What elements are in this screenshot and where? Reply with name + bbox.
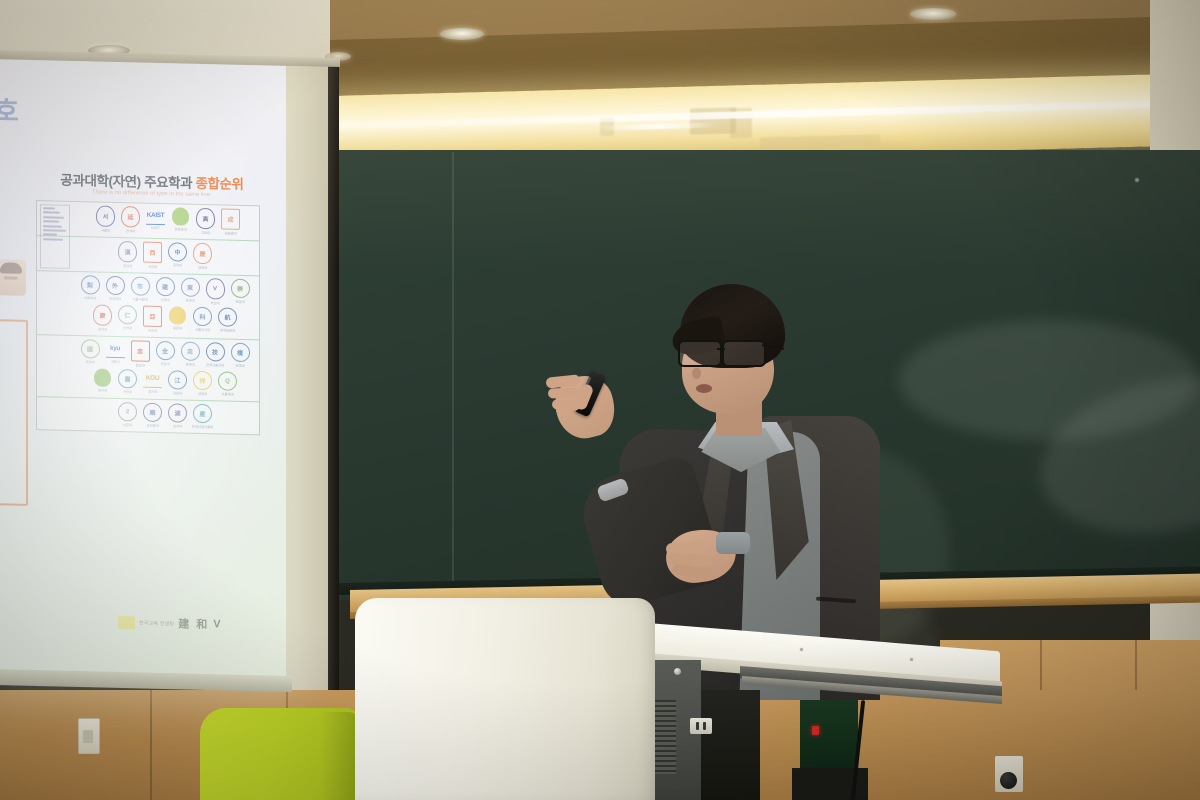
slide-footer-brand: 한국교육 컨설팅 建 和 V — [118, 614, 221, 632]
university-wordmark: KGU — [143, 370, 162, 388]
university-caption: 세종대 — [110, 359, 119, 364]
university-item: 祥상명대 — [192, 371, 214, 397]
university-caption: 한양대 — [123, 263, 132, 268]
university-item: 東동국대 — [179, 277, 201, 305]
university-caption: 고려대 — [201, 230, 210, 235]
university-item: 高고려대 — [195, 208, 217, 236]
brand-cjk-text: 建 和 — [178, 615, 209, 632]
power-plug[interactable] — [1000, 772, 1017, 789]
university-item: 慶경북대 — [92, 304, 114, 332]
university-caption: 건국대 — [160, 297, 169, 302]
university-item: 延연세대 — [120, 206, 142, 234]
university-item: 漢한양대 — [117, 241, 139, 269]
university-caption: 한국외대 — [109, 296, 121, 301]
university-item: 2선문대 — [117, 402, 139, 428]
university-crest-icon: 江 — [168, 370, 187, 389]
power-led-icon — [812, 726, 819, 735]
university-item: 嘉가천대 — [117, 369, 139, 395]
university-logo-icon — [94, 368, 111, 386]
lectern-leg — [700, 690, 760, 800]
university-caption: 중앙대 — [173, 262, 182, 267]
university-item: 명지대 — [92, 368, 114, 394]
university-crest-icon: 檀 — [231, 343, 250, 362]
university-caption: 경북대 — [98, 327, 107, 332]
university-crest-icon: 技 — [206, 342, 225, 361]
university-caption: 인하대 — [123, 325, 132, 330]
screw — [800, 648, 803, 651]
downlight-icon — [910, 8, 956, 20]
ranking-tier: 漢한양대西서강대中중앙대慶경희대 — [37, 236, 259, 276]
university-item: 科서울과기대 — [192, 307, 214, 335]
university-wordmark: kyu — [106, 340, 125, 358]
ranking-table: 서서울대延연세대KAISTKAIST포항공대高고려대成성균관대漢한양대西서강대中… — [36, 200, 260, 435]
university-item: KGU경기대 — [142, 370, 164, 396]
university-crest-icon: 慶 — [93, 304, 112, 325]
university-crest-icon: 漢 — [118, 241, 137, 262]
university-caption: KAIST — [151, 226, 160, 230]
university-crest-icon: 東 — [181, 278, 200, 297]
university-item: KAISTKAIST — [145, 207, 167, 235]
university-item: Q가톨릭대 — [217, 371, 239, 397]
ranking-tier: 梨이화여대外한국외대市서울시립대建건국대東동국대V부산대崇숭실대慶경북대仁인하대… — [37, 271, 259, 340]
university-crest-icon: Q — [218, 371, 237, 390]
university-caption: 가톨릭대 — [221, 391, 233, 396]
lectern-lock-knob[interactable] — [674, 668, 681, 675]
university-item: 仁인하대 — [117, 305, 139, 333]
screw — [910, 658, 913, 661]
university-item: 江강원대 — [167, 370, 189, 396]
university-caption: 성균관대 — [224, 231, 236, 236]
university-crest-icon: 航 — [218, 307, 237, 326]
university-crest-icon: 崇 — [231, 279, 250, 298]
university-caption: 아주대 — [148, 328, 157, 333]
university-item: 亞아주대 — [142, 306, 164, 334]
university-crest-icon: 中 — [168, 242, 187, 261]
university-caption: 동국대 — [185, 298, 194, 303]
university-item: 서서울대 — [95, 205, 117, 233]
slide-cutoff-header: 호 — [0, 89, 18, 129]
university-caption: 서울대 — [101, 228, 110, 233]
university-caption: 상명대 — [198, 391, 207, 396]
projected-slide: 호 공과대학(자연) 주요학과 종합순위 There is no differe… — [0, 59, 286, 686]
av-equipment — [800, 690, 858, 776]
university-item: 成성균관대 — [220, 208, 242, 236]
university-crest-icon: 仁 — [118, 305, 137, 324]
ranking-tier: 國국민대kyu세종대忠충남대全전남대忠충북대技한국기술교대檀단국대명지대嘉가천대… — [37, 335, 259, 402]
university-caption: 순천향대 — [146, 423, 158, 428]
ranking-tier: 2선문대順순천향대湖호서대産한국산업기술대 — [37, 397, 259, 434]
university-crest-icon: 梨 — [81, 275, 100, 294]
university-caption: 광운대 — [173, 325, 182, 330]
slide-highlight-box — [0, 319, 28, 506]
slide-title-main: 공과대학(자연) 주요학과 — [60, 173, 195, 191]
university-item: 西서강대 — [142, 242, 164, 270]
university-caption: 연세대 — [126, 228, 135, 233]
university-item: 梨이화여대 — [79, 275, 101, 303]
university-item: 광운대 — [167, 306, 189, 334]
university-caption: 전남대 — [160, 361, 169, 366]
university-item: 湖호서대 — [167, 403, 189, 429]
chalkboard-seam — [452, 152, 454, 592]
university-crest-icon: 市 — [131, 276, 150, 295]
university-item: 順순천향대 — [142, 403, 164, 429]
university-caption: 경기대 — [148, 389, 157, 394]
lecture-hall-scene: 호 공과대학(자연) 주요학과 종합순위 There is no differe… — [0, 0, 1200, 800]
brand-v-icon: V — [213, 618, 220, 630]
wall-plate-insert — [83, 730, 93, 743]
glasses-lens-left — [678, 340, 722, 367]
university-crest-icon: 延 — [121, 206, 140, 227]
glasses-bridge — [717, 348, 725, 350]
university-item: 産한국산업기술대 — [192, 404, 214, 430]
ranking-tier: 서서울대延연세대KAISTKAIST포항공대高고려대成성균관대 — [37, 201, 259, 241]
university-caption: 충북대 — [185, 362, 194, 367]
university-caption: 국민대 — [85, 359, 94, 364]
university-item: 忠충북대 — [179, 341, 201, 369]
university-crest-icon: 嘉 — [118, 369, 137, 388]
university-crest-icon: 順 — [143, 403, 162, 422]
university-crest-icon: 忠 — [181, 342, 200, 361]
university-caption: 서강대 — [148, 264, 157, 269]
downlight-icon — [440, 28, 484, 40]
lectern-body — [355, 598, 655, 800]
university-crest-icon: 祥 — [193, 371, 212, 390]
university-crest-icon: 亞 — [143, 306, 162, 327]
university-item: 忠충남대 — [129, 340, 151, 368]
lectern-power-outlet[interactable] — [690, 718, 712, 734]
university-caption: 한국산업기술대 — [192, 424, 213, 429]
university-caption: 부산대 — [210, 300, 219, 305]
university-caption: 충남대 — [135, 362, 144, 367]
university-logo-icon — [172, 207, 189, 225]
university-caption: 가천대 — [123, 389, 132, 394]
university-crest-icon: 全 — [156, 341, 175, 360]
university-crest-icon: 國 — [81, 339, 100, 358]
projection-screen: 호 공과대학(자연) 주요학과 종합순위 There is no differe… — [0, 59, 286, 686]
university-crest-icon: 忠 — [131, 340, 150, 361]
glasses-icon — [678, 340, 776, 364]
university-caption: 단국대 — [235, 363, 244, 368]
university-crest-icon: 成 — [221, 208, 240, 229]
mouth — [696, 384, 712, 393]
tier-logo-row: 漢한양대西서강대中중앙대慶경희대 — [39, 239, 257, 271]
university-crest-icon: 外 — [106, 276, 125, 295]
university-crest-icon: 서 — [96, 206, 115, 227]
university-caption: 강원대 — [173, 390, 182, 395]
wood-seam — [150, 690, 152, 800]
university-caption: 이화여대 — [84, 295, 96, 300]
slide-title-highlight: 종합순위 — [196, 176, 244, 192]
university-crest-icon: V — [206, 278, 225, 299]
university-item: 中중앙대 — [167, 242, 189, 270]
university-caption: 서울시립대 — [132, 296, 147, 301]
university-crest-icon: 慶 — [193, 243, 212, 264]
university-caption: 경희대 — [198, 265, 207, 270]
tier-logo-row: 梨이화여대外한국외대市서울시립대建건국대東동국대V부산대崇숭실대慶경북대仁인하대… — [39, 274, 257, 335]
sweater-cuff — [716, 532, 750, 554]
university-crest-icon: 湖 — [168, 403, 187, 422]
slide-avatar-icon — [0, 259, 26, 296]
university-crest-icon: 産 — [193, 404, 212, 423]
university-item: 國국민대 — [79, 339, 101, 367]
vent-grille-icon — [652, 700, 676, 774]
tier-logo-row: 國국민대kyu세종대忠충남대全전남대忠충북대技한국기술교대檀단국대명지대嘉가천대… — [39, 338, 257, 397]
university-item: 市서울시립대 — [129, 276, 151, 304]
brand-small-text: 한국교육 컨설팅 — [139, 619, 174, 627]
university-item: 慶경희대 — [192, 243, 214, 271]
university-caption: 한국항공대 — [220, 327, 235, 332]
university-wordmark: KAIST — [146, 207, 165, 225]
university-crest-icon: 建 — [156, 277, 175, 296]
university-item: 全전남대 — [154, 341, 176, 369]
university-crest-icon: 2 — [118, 402, 137, 421]
university-caption: 한국기술교대 — [206, 362, 224, 367]
tier-logo-row: 서서울대延연세대KAISTKAIST포항공대高고려대成성균관대 — [39, 204, 257, 236]
wall-column-edge — [328, 64, 339, 764]
university-item: 航한국항공대 — [217, 307, 239, 335]
university-caption: 명지대 — [98, 388, 107, 393]
university-item: 建건국대 — [154, 277, 176, 305]
university-item: 포항공대 — [170, 207, 192, 235]
finger — [548, 387, 580, 398]
university-item: 外한국외대 — [104, 276, 126, 304]
university-logo-icon — [169, 306, 186, 324]
glasses-lens-right — [722, 340, 766, 367]
university-item: V부산대 — [204, 278, 226, 306]
university-caption: 호서대 — [173, 423, 182, 428]
nose — [692, 368, 701, 379]
university-crest-icon: 科 — [193, 307, 212, 326]
university-caption: 숭실대 — [235, 299, 244, 304]
university-caption: 서울과기대 — [195, 327, 210, 332]
university-item: kyu세종대 — [104, 340, 126, 368]
university-caption: 선문대 — [123, 422, 132, 427]
university-item: 技한국기술교대 — [204, 342, 226, 370]
university-item: 檀단국대 — [229, 343, 251, 371]
university-caption: 포항공대 — [174, 226, 186, 231]
university-item: 崇숭실대 — [229, 279, 251, 307]
tier-logo-row: 2선문대順순천향대湖호서대産한국산업기술대 — [39, 400, 257, 430]
university-crest-icon: 西 — [143, 242, 162, 263]
chalk-dot — [1135, 178, 1139, 182]
university-crest-icon: 高 — [196, 208, 215, 229]
brand-mark-icon — [118, 616, 135, 629]
